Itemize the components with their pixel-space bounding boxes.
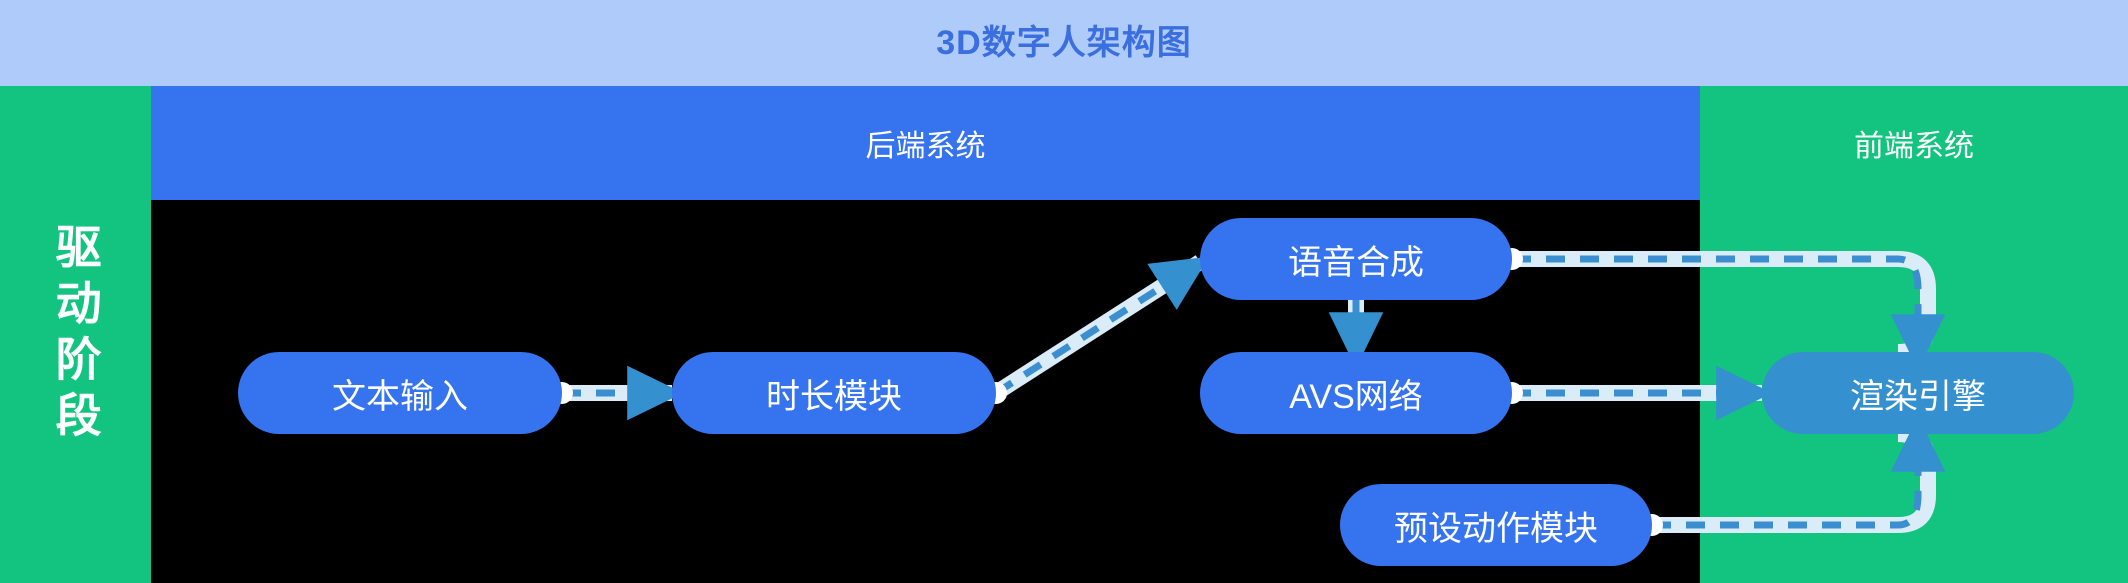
node-preset-action-module-label: 预设动作模块 — [1340, 484, 1652, 566]
stage-column: 驱动阶段 — [0, 86, 151, 583]
backend-header-band: 后端系统 — [151, 86, 1700, 200]
frontend-panel: 前端系统 — [1700, 86, 2128, 583]
node-text-input[interactable]: 文本输入 — [238, 352, 562, 434]
node-preset-action-module[interactable]: 预设动作模块 — [1340, 484, 1652, 566]
stage-column-label: 驱动阶段 — [51, 223, 99, 447]
frontend-header-label: 前端系统 — [1854, 121, 1974, 165]
diagram-root: 3D数字人架构图 驱动阶段 后端系统 前端系统 — [0, 0, 2128, 583]
node-text-input-label: 文本输入 — [238, 352, 562, 434]
node-avs-network[interactable]: AVS网络 — [1200, 352, 1512, 434]
node-duration-module[interactable]: 时长模块 — [672, 352, 996, 434]
page-title: 3D数字人架构图 — [936, 26, 1191, 60]
backend-header-label: 后端系统 — [866, 121, 986, 165]
node-avs-network-label: AVS网络 — [1200, 352, 1512, 434]
node-render-engine[interactable]: 渲染引擎 — [1762, 352, 2074, 434]
node-duration-module-label: 时长模块 — [672, 352, 996, 434]
title-band: 3D数字人架构图 — [0, 0, 2128, 86]
node-speech-synthesis-label: 语音合成 — [1200, 218, 1512, 300]
frontend-header-band: 前端系统 — [1700, 86, 2128, 200]
node-render-engine-label: 渲染引擎 — [1762, 352, 2074, 434]
node-speech-synthesis[interactable]: 语音合成 — [1200, 218, 1512, 300]
